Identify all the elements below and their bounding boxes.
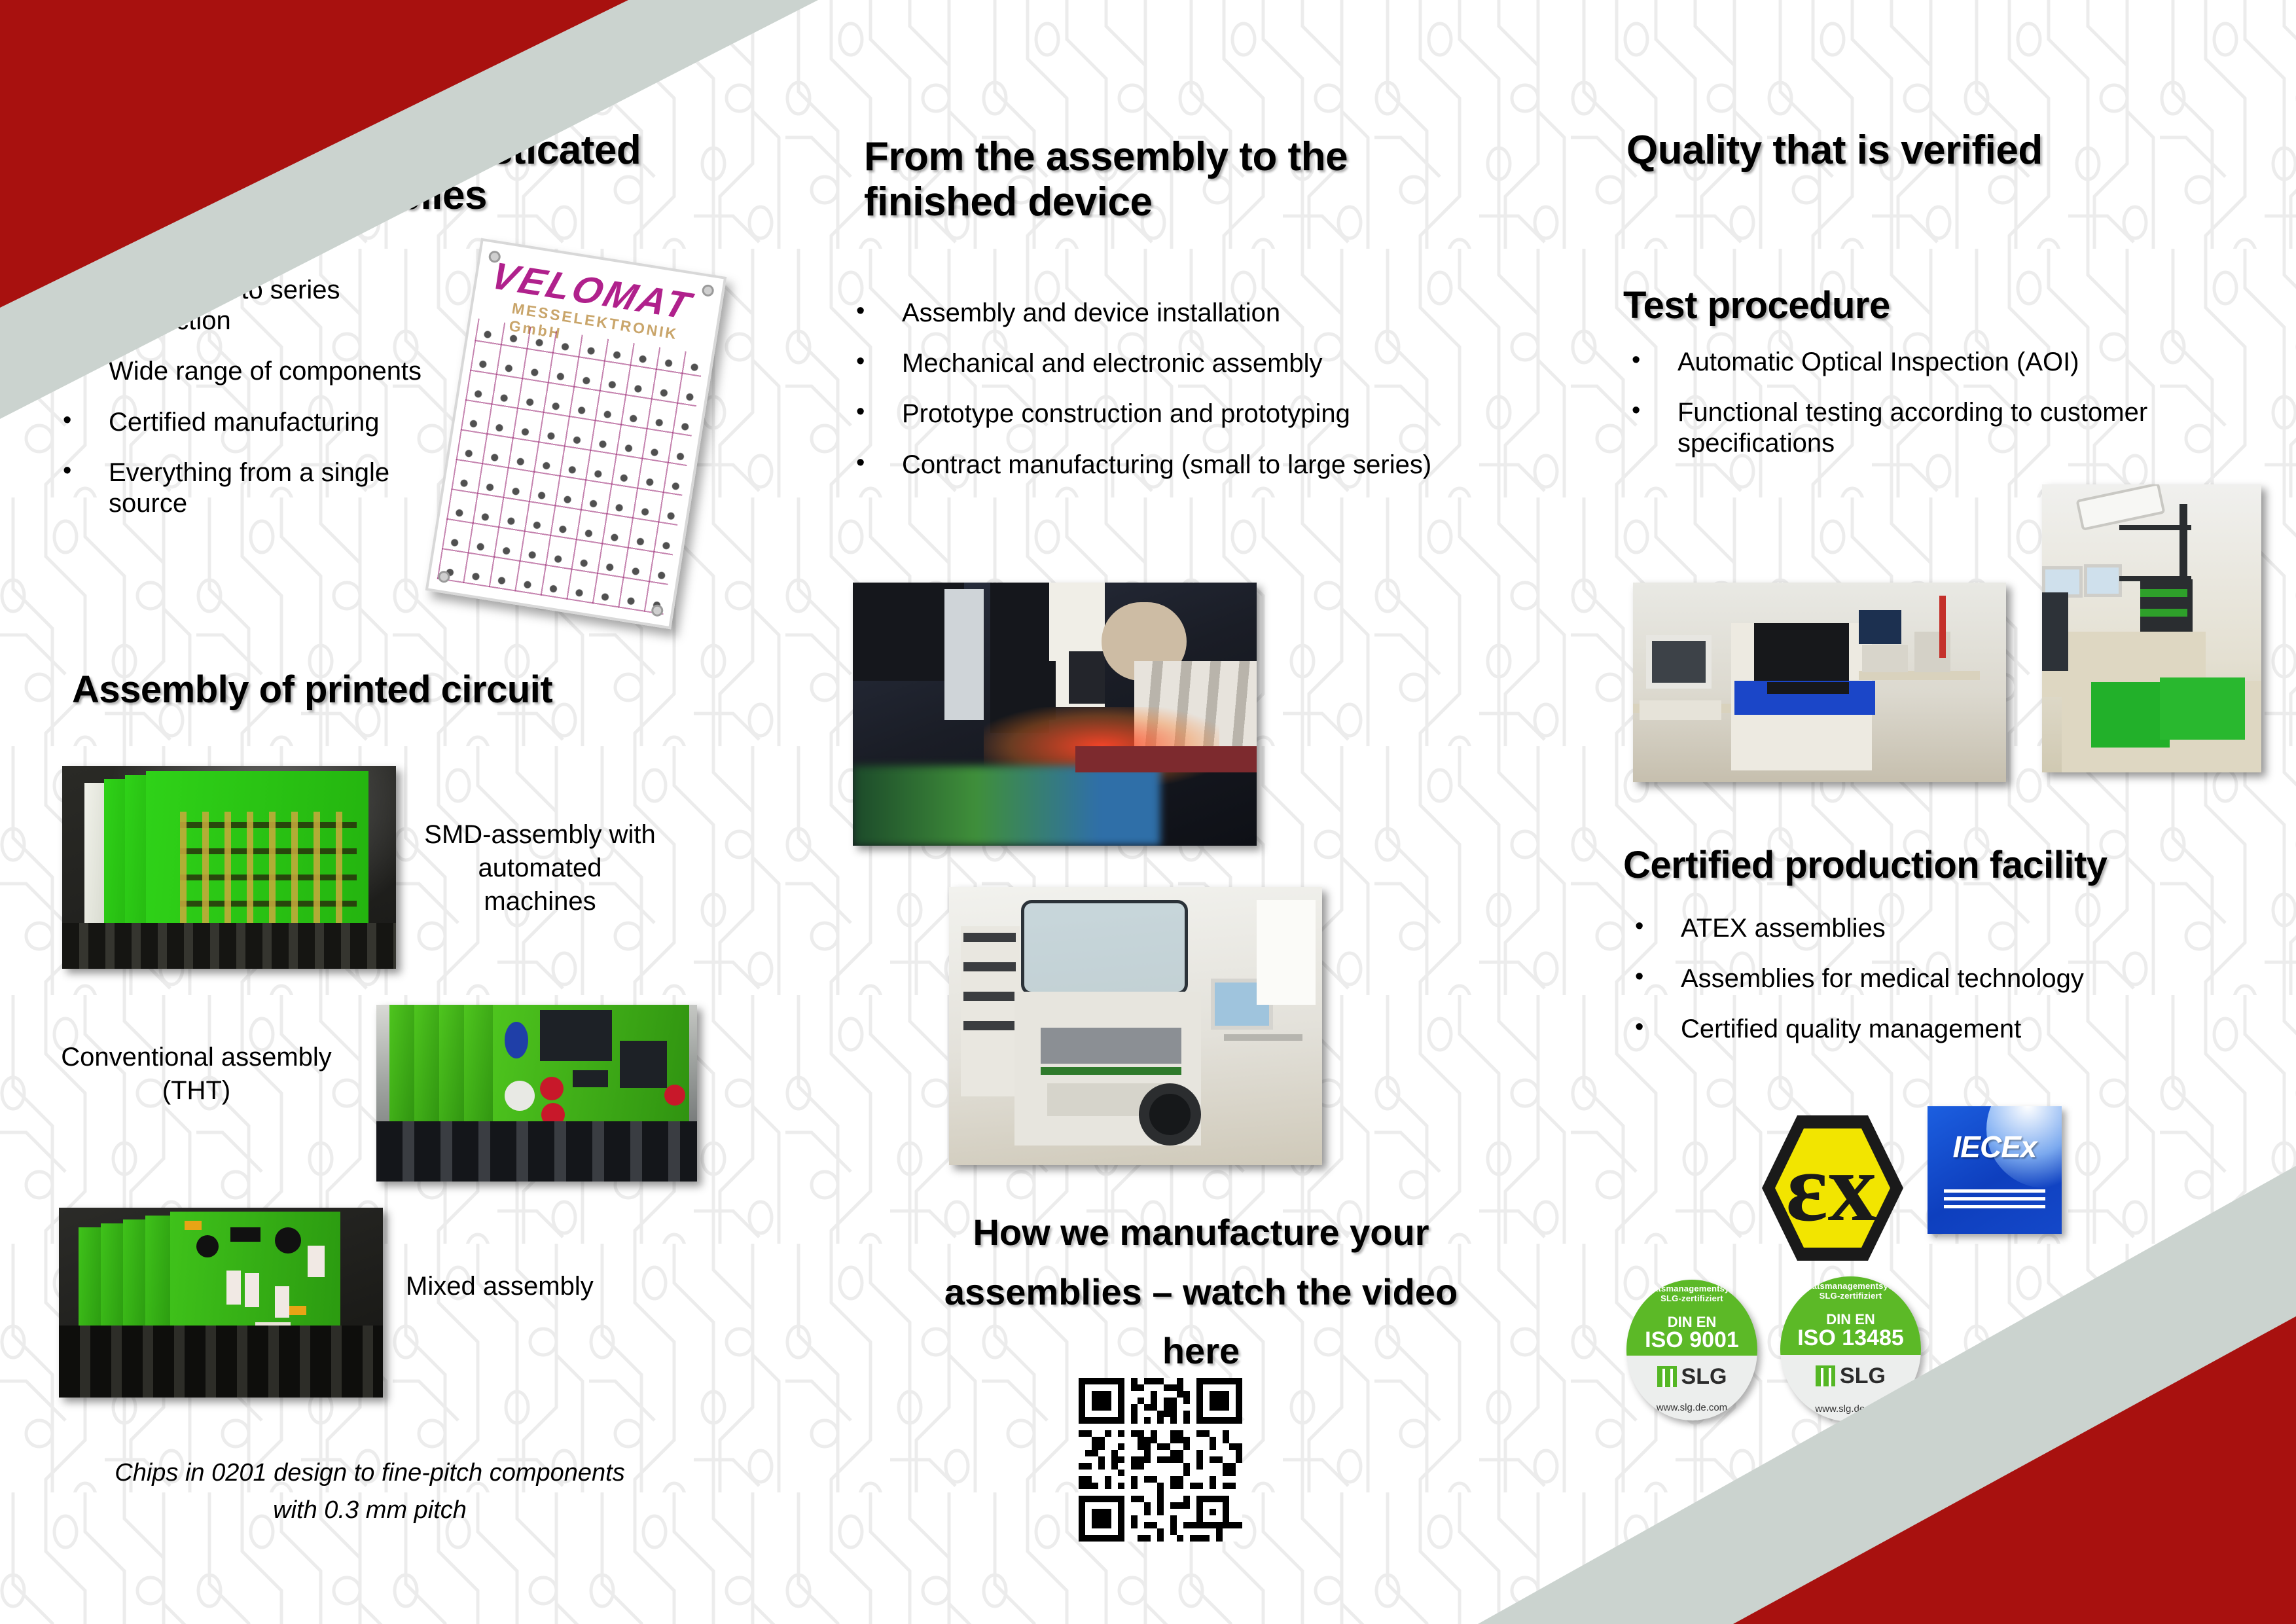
list-item: Contract manufacturing (small to large s… [844, 450, 1525, 480]
certified-facility-bullet-list: ATEX assemblies Assemblies for medical t… [1623, 913, 2291, 1065]
slg-iso-13485-seal: Qualitätsmanagementsystem · SLG-zertifiz… [1780, 1276, 1921, 1422]
iecex-logo-text: IECEx [1928, 1129, 2062, 1164]
list-item: Prototype construction and prototyping [844, 399, 1525, 429]
left-footnote: Chips in 0201 design to fine-pitch compo… [39, 1454, 700, 1529]
seal-body-text: SLG [1840, 1363, 1886, 1388]
brochure-page: Your partner for sophisticated electroni… [0, 0, 2296, 1624]
seal-arc-text: Qualitätsmanagementsystem · SLG-zertifiz… [1780, 1281, 1921, 1301]
aoi-machine-photo [1633, 583, 2006, 782]
velomat-component-samples [437, 319, 704, 615]
list-item: Certified manufacturing [51, 407, 457, 438]
seal-url: www.slg.de.com [1780, 1403, 1921, 1415]
video-callout-line-1: How we manufacture your [844, 1203, 1558, 1263]
right-column-heading: Quality that is verified [1626, 128, 2287, 173]
tht-caption: Conventional assembly (THT) [59, 1041, 334, 1108]
video-callout-line-3: here [844, 1322, 1558, 1381]
certified-facility-heading: Certified production facility [1623, 844, 2284, 887]
list-item: Mechanical and electronic assembly [844, 348, 1525, 379]
list-item: Assembly and device installation [844, 298, 1525, 329]
left-column-heading: Your partner for sophisticated electroni… [72, 128, 681, 219]
iecex-logo: IECEx [1928, 1106, 2062, 1234]
velomat-sample-board-image: VELOMAT MESSELEKTRONIK GmbH [425, 238, 727, 630]
video-callout-line-2: assemblies – watch the video [844, 1263, 1558, 1322]
list-item: Certified quality management [1623, 1014, 2291, 1045]
seal-url: www.slg.de.com [1626, 1402, 1757, 1413]
left-column-bullet-list: Prototypes to series production Wide ran… [51, 275, 457, 539]
list-item: Assemblies for medical technology [1623, 964, 2291, 994]
test-lab-photo [2042, 484, 2261, 772]
placement-head-photo [853, 583, 1257, 846]
video-callout: How we manufacture your assemblies – wat… [844, 1203, 1558, 1381]
iecex-logo-lines [1944, 1186, 2046, 1208]
mixed-caption: Mixed assembly [406, 1270, 655, 1303]
middle-column-bullet-list: Assembly and device installation Mechani… [844, 298, 1525, 500]
smd-panel-stack-photo [62, 766, 396, 969]
seal-body-row: SLG [1626, 1364, 1757, 1390]
list-item: Everything from a single source [51, 458, 457, 519]
left-section-heading: Assembly of printed circuit [72, 669, 674, 712]
list-item: Functional testing according to customer… [1620, 397, 2296, 459]
test-procedure-bullet-list: Automatic Optical Inspection (AOI) Funct… [1620, 347, 2296, 479]
seal-arc-text: Qualitätsmanagementsystem · SLG-zertifiz… [1626, 1284, 1757, 1303]
smt-machine-photo [949, 887, 1322, 1165]
list-item: ATEX assemblies [1623, 913, 2291, 944]
tht-boards-photo [376, 1005, 697, 1182]
svg-text:εx: εx [1785, 1133, 1876, 1242]
middle-column-heading: From the assembly to the finished device [864, 134, 1433, 225]
smd-caption: SMD-assembly with automated machines [419, 818, 661, 919]
seal-body-row: SLG [1780, 1363, 1921, 1389]
mixed-assembly-photo [59, 1208, 383, 1398]
left-footnote-line-1: Chips in 0201 design to fine-pitch compo… [39, 1454, 700, 1492]
slg-mark-icon [1657, 1366, 1677, 1387]
seal-standard: ISO 9001 [1626, 1327, 1757, 1353]
seal-body-text: SLG [1681, 1364, 1727, 1389]
list-item: Wide range of components [51, 356, 457, 387]
list-item: Automatic Optical Inspection (AOI) [1620, 347, 2296, 378]
test-procedure-heading: Test procedure [1623, 285, 2212, 327]
slg-mark-icon [1816, 1365, 1835, 1386]
slg-iso-9001-seal: Qualitätsmanagementsystem · SLG-zertifiz… [1626, 1280, 1757, 1420]
atex-ex-icon: εx [1754, 1106, 1911, 1270]
left-footnote-line-2: with 0.3 mm pitch [39, 1492, 700, 1529]
seal-standard: ISO 13485 [1780, 1326, 1921, 1351]
list-item: Prototypes to series production [51, 275, 457, 336]
qr-code[interactable] [1079, 1378, 1242, 1542]
